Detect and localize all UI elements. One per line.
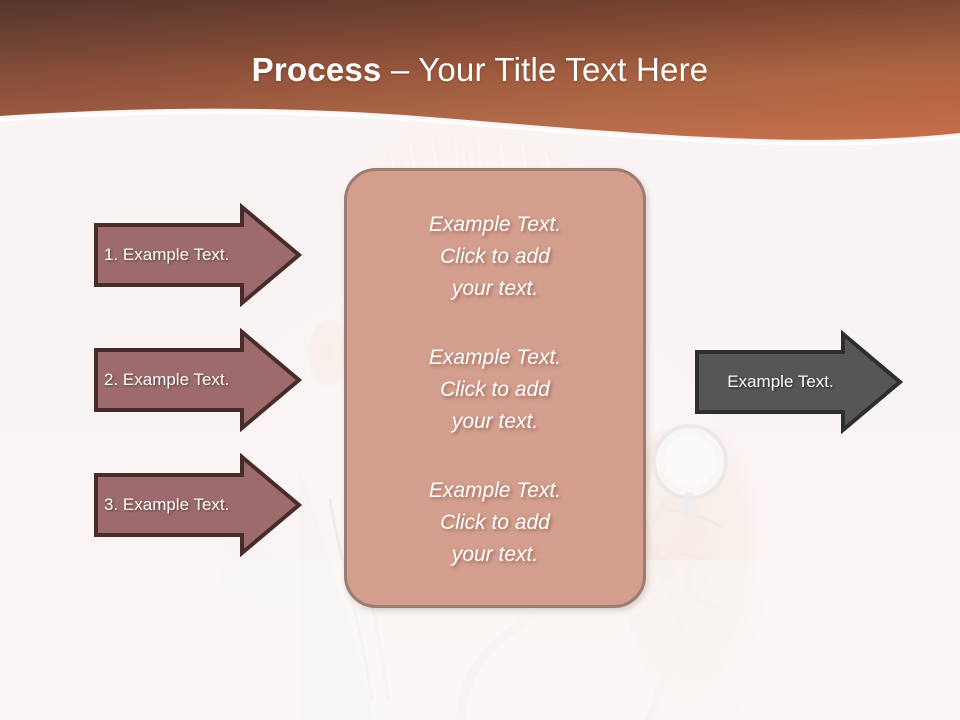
center-content-box[interactable]: Example Text. Click to add your text. Ex… <box>344 168 646 608</box>
center-box-text-2: Example Text. Click to add your text. <box>370 342 620 438</box>
input-arrow-3[interactable]: 3. Example Text. <box>92 453 304 557</box>
page-title-strong: Process <box>252 51 391 88</box>
slide-canvas: Process – Your Title Text Here 1. Exampl… <box>0 0 960 720</box>
center-box-text-1: Example Text. Click to add your text. <box>370 209 620 305</box>
input-arrow-1[interactable]: 1. Example Text. <box>92 203 304 307</box>
output-arrow[interactable]: Example Text. <box>693 330 905 434</box>
page-title: Process – Your Title Text Here <box>0 50 960 90</box>
input-arrow-2[interactable]: 2. Example Text. <box>92 328 304 432</box>
page-title-rest: – Your Title Text Here <box>391 51 708 88</box>
center-box-text-3: Example Text. Click to add your text. <box>370 475 620 571</box>
